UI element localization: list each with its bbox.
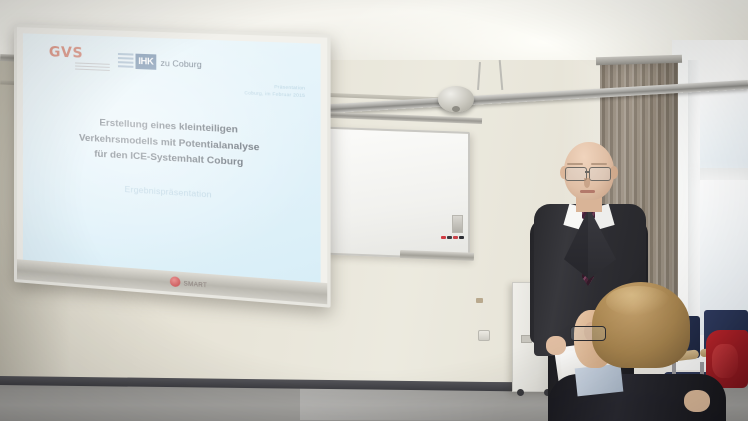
projector-lens [452, 106, 460, 112]
ihk-logo: IHK zu Coburg [118, 53, 202, 72]
red-marker-icon[interactable] [441, 236, 446, 239]
eyeglasses-bridge [585, 171, 590, 173]
presenter-eyebrow-left [567, 163, 583, 165]
gvs-logo-subtext [75, 62, 110, 73]
projection-screen: GVS IHK zu Coburg Präsentation Coburg, i… [14, 24, 331, 308]
conference-room-photo: GVS IHK zu Coburg Präsentation Coburg, i… [0, 0, 748, 421]
ihk-logo-text: zu Coburg [160, 57, 201, 69]
eyeglasses-icon [570, 326, 606, 341]
presenter-mouth [580, 190, 595, 193]
window-mullion [700, 168, 748, 180]
projection-screen-surface: GVS IHK zu Coburg Präsentation Coburg, i… [23, 33, 321, 282]
slide-title: Erstellung eines kleinteiligen Verkehrsm… [37, 112, 305, 174]
ihk-logo-grid-icon [118, 53, 133, 69]
audience-member-foreground [556, 282, 748, 421]
slide-eyebrow-line2: Coburg, im Februar 2015 [244, 90, 305, 100]
screen-brand-dot-icon [170, 276, 181, 287]
wall-hook [476, 298, 483, 303]
whiteboard[interactable] [326, 127, 470, 260]
whiteboard-side-bracket [452, 215, 463, 233]
audience-hand [684, 390, 710, 412]
presenter-eyebrow-right [591, 163, 607, 165]
presenter-ear-right [610, 166, 618, 179]
slide-content: GVS IHK zu Coburg Präsentation Coburg, i… [23, 33, 321, 261]
black-marker-icon[interactable] [459, 236, 464, 239]
slide-eyebrow: Präsentation Coburg, im Februar 2015 [244, 83, 305, 100]
audience-hair-highlight [606, 286, 670, 316]
ihk-logo-mark: IHK [136, 54, 157, 70]
presenter-nose [584, 178, 590, 188]
gvs-logo: GVS [49, 44, 83, 61]
wall-power-socket [478, 330, 490, 341]
slide-subtitle: Ergebnispräsentation [37, 178, 305, 205]
red-marker-icon[interactable] [453, 236, 458, 239]
screen-brand-label: SMART [184, 281, 208, 289]
audience-shirt-collar [575, 364, 624, 397]
window-pane-upper [700, 92, 748, 168]
eyeglasses-icon [589, 167, 611, 181]
black-marker-icon[interactable] [447, 236, 452, 239]
